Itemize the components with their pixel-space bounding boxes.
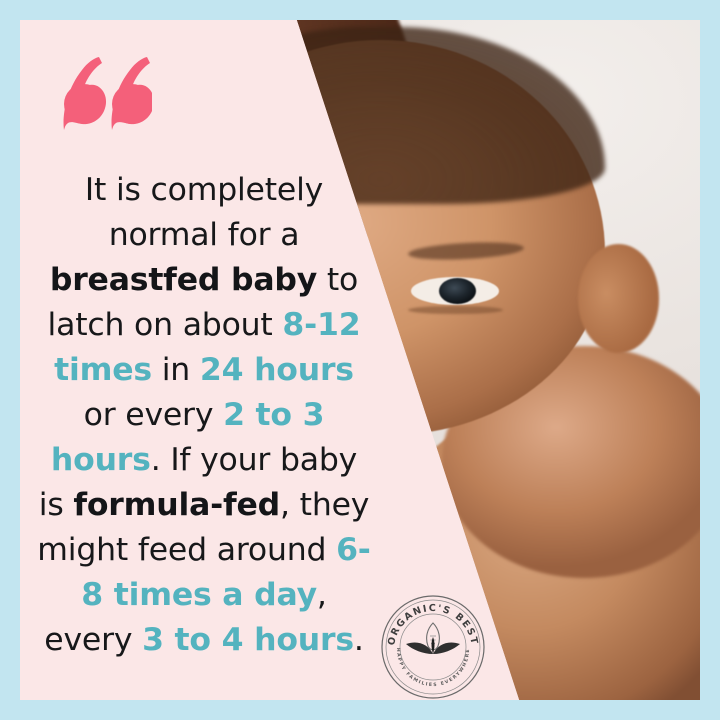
quote-segment-accent: 3 to 4 hours [142,622,354,658]
leaf-and-bottle-icon [406,623,460,654]
quote-segment: or every [84,397,223,433]
card-inner: It is completely normal for a breastfed … [20,20,700,700]
quote-segment-bold: formula-fed [73,487,280,523]
quote-card: It is completely normal for a breastfed … [0,0,720,720]
quote-segment-bold: breastfed baby [50,262,317,298]
quote-segment: It is completely normal for a [85,172,323,253]
quote-segment-accent: 24 hours [200,352,354,388]
double-quote-icon [56,56,152,132]
quote-segment: . [354,622,364,658]
organics-best-seal-icon: ORGANIC'S BEST HAPPY FAMILIES EVERYWHERE [378,592,488,700]
baby-ear [578,244,660,353]
quote-text: It is completely normal for a breastfed … [34,168,374,663]
quote-segment: in [152,352,200,388]
baby-lower-lid-right [408,306,503,314]
baby-iris-right [439,278,476,304]
